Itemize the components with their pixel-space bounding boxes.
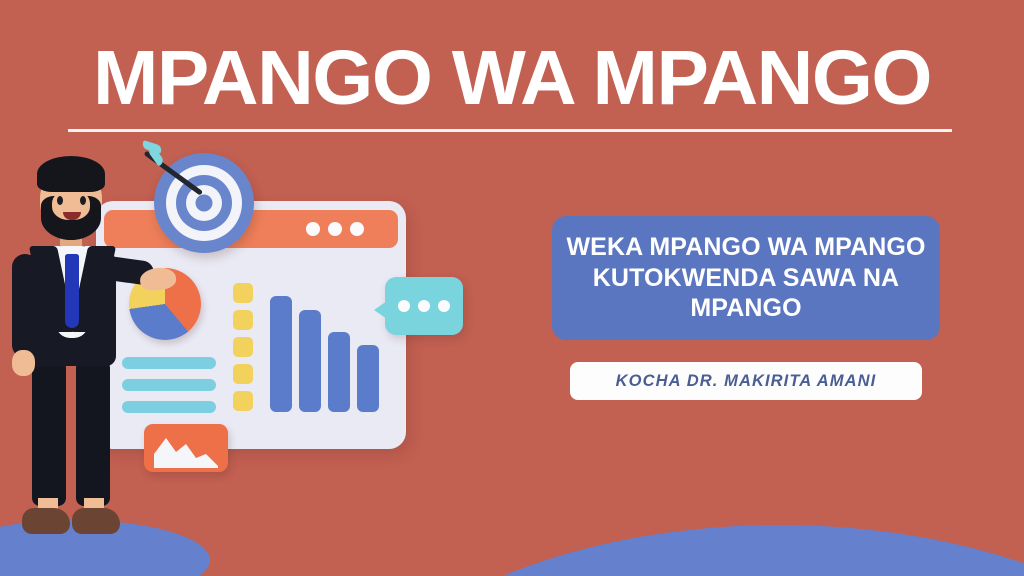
bubble-dot-1 [398, 300, 410, 312]
character-shoe-right [72, 508, 120, 534]
window-dot-icon-3 [350, 222, 364, 236]
bar-chart-bar-2 [299, 310, 321, 412]
poster-canvas: MPANGO WA MPANGO WEKA MPANGO WA MPANGO K… [0, 0, 1024, 576]
character-necktie [65, 254, 79, 328]
checkbox-icon-1 [233, 283, 253, 303]
speech-bubble-icon [385, 277, 463, 335]
subtitle-text: WEKA MPANGO WA MPANGO KUTOKWENDA SAWA NA… [566, 232, 926, 324]
checkbox-icon-3 [233, 337, 253, 357]
character-hand-left [12, 350, 35, 376]
businessman-character [0, 150, 190, 560]
bar-chart-bar-4 [357, 345, 379, 412]
checkbox-icon-4 [233, 364, 253, 384]
checkbox-icon-5 [233, 391, 253, 411]
window-dot-icon-1 [306, 222, 320, 236]
title-block: MPANGO WA MPANGO [0, 40, 1024, 117]
character-eye-left [57, 196, 63, 205]
bubble-dot-3 [438, 300, 450, 312]
target-bullseye-center [196, 195, 213, 212]
background-arc-shape [330, 525, 1024, 576]
subtitle-panel: WEKA MPANGO WA MPANGO KUTOKWENDA SAWA NA… [552, 216, 940, 340]
character-arm-left [12, 254, 38, 358]
character-leg-right [76, 356, 110, 506]
character-shoe-left [22, 508, 70, 534]
author-text: KOCHA DR. MAKIRITA AMANI [616, 372, 877, 391]
bar-chart-bar-1 [270, 296, 292, 412]
author-panel: KOCHA DR. MAKIRITA AMANI [570, 362, 922, 400]
character-hair [37, 156, 105, 192]
page-title: MPANGO WA MPANGO [0, 40, 1024, 117]
bar-chart-bar-3 [328, 332, 350, 412]
checkbox-icon-2 [233, 310, 253, 330]
bubble-dot-2 [418, 300, 430, 312]
character-leg-left [32, 356, 66, 506]
window-dot-icon-2 [328, 222, 342, 236]
title-underline-rule [68, 129, 952, 132]
character-eye-right [80, 196, 86, 205]
